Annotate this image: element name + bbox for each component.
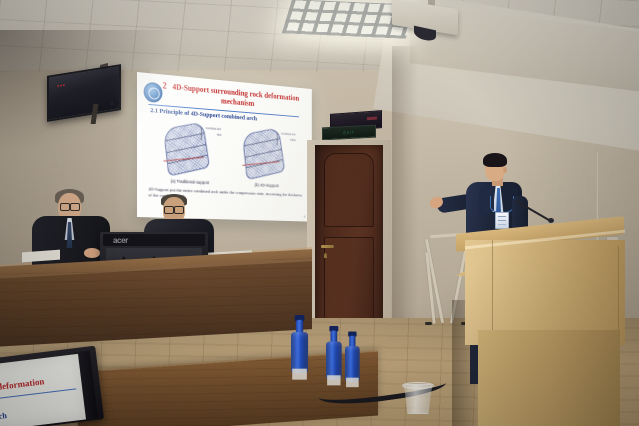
figure-label-a1: Combined arch: [206, 127, 222, 131]
laptop-screen: ock deformation d arch: [0, 354, 86, 426]
figure-traditional-support: Combined arch Bolt (a) Traditional suppo…: [154, 119, 225, 184]
water-bottle[interactable]: [345, 336, 360, 384]
presenter-badge: [495, 212, 509, 229]
conference-room-photo: ●●● □ 2 4D-Support surrounding rock defo…: [0, 0, 639, 426]
panelist-1-glasses-icon: [60, 203, 80, 209]
university-emblem-icon: [144, 82, 163, 104]
tv-logo: ●●●: [57, 82, 65, 88]
arch-segment: [165, 133, 204, 141]
figure-leader-a: Combined arch Bolt: [201, 127, 221, 142]
tv-brand: □: [111, 101, 113, 105]
arch-segment: [244, 138, 280, 146]
plastic-cup-rim: [402, 382, 434, 389]
panelist-1-hand: [84, 248, 100, 258]
figure-label-a2: Bolt: [217, 134, 221, 137]
monitor-brand-logo: acer: [113, 236, 128, 245]
presenter-hair: [483, 153, 507, 167]
figure-caption-b: (b) 4D-Support: [234, 181, 299, 189]
figure-label-b1: Combined arch: [281, 133, 295, 137]
water-bottle[interactable]: [326, 330, 342, 382]
figure-caption-a: (a) Traditional support: [154, 178, 225, 186]
slide-figure-row: Combined arch Bolt (a) Traditional suppo…: [147, 119, 304, 188]
bottle-label: [292, 369, 307, 380]
water-bottle[interactable]: [291, 320, 308, 376]
door-panel-upper: [324, 153, 374, 227]
slide-section-number: 2: [162, 80, 166, 90]
door-keyhole-icon: [324, 253, 327, 258]
microphone-icon: [548, 218, 554, 223]
figure-4d-support: Combined arch Cable (b) 4D-Support: [234, 125, 299, 187]
figure-leader-b: Combined arch Cable: [277, 132, 296, 146]
bottle-body: [345, 346, 360, 382]
bottle-label: [327, 375, 340, 385]
folding-stand-foot: [425, 322, 432, 325]
slide-page-number: 6: [304, 215, 306, 219]
presenter-ear: [503, 167, 507, 173]
room-door[interactable]: [315, 145, 383, 345]
wall-corner-shadow: [392, 46, 418, 346]
arch-segment: [167, 144, 206, 153]
laptop-slide-subtitle: d arch: [0, 411, 7, 423]
bottle-body: [291, 332, 308, 373]
laptop-slide-rule: [0, 388, 76, 401]
laptop-slide-title: ock deformation: [0, 376, 45, 394]
door-handle-icon[interactable]: [321, 245, 334, 248]
exit-sign-label: EXIT: [343, 130, 354, 136]
bottle-body: [326, 342, 342, 380]
arch-segment: [245, 149, 281, 158]
bottle-label: [346, 378, 359, 387]
figure-label-b2: Cable: [290, 139, 296, 142]
panelist-2-glasses-icon: [164, 206, 184, 212]
podium-base: [478, 330, 620, 426]
presenter-lanyard: [490, 196, 514, 213]
presenter-laptop[interactable]: ock deformation d arch: [0, 346, 104, 426]
